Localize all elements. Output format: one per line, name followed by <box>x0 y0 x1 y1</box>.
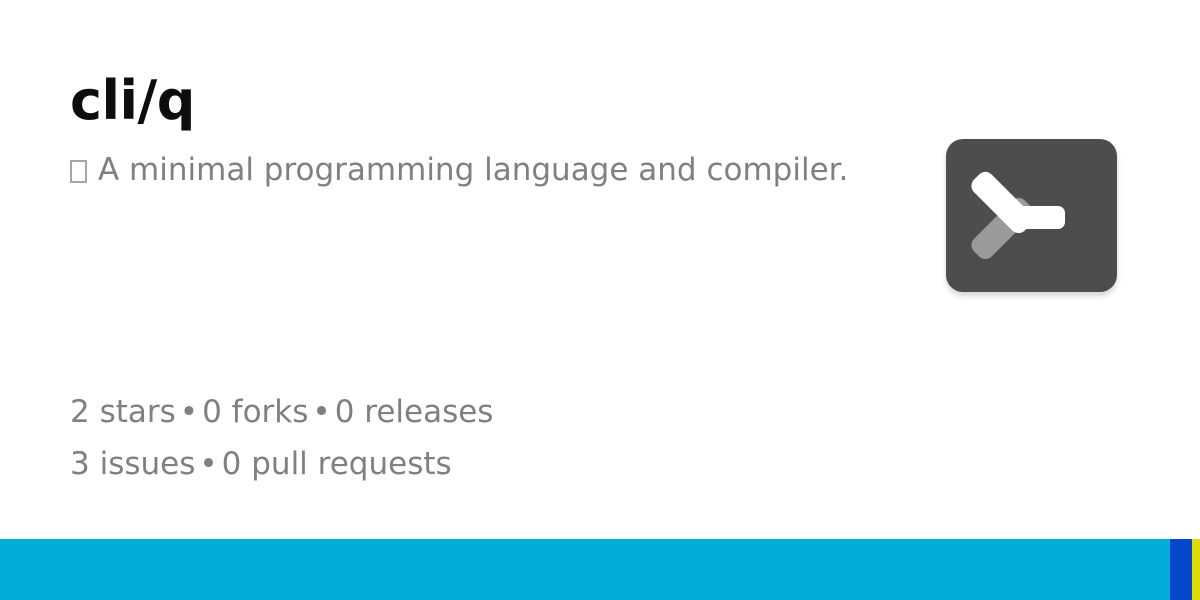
terminal-icon <box>946 139 1117 292</box>
cursor-bar-icon <box>1013 206 1065 229</box>
missing-glyph-box-icon <box>70 160 87 183</box>
pull-requests-count: 0 pull requests <box>222 446 452 482</box>
stats-line-primary: 2 stars•0 forks•0 releases <box>70 386 890 438</box>
page-title: cli/q <box>70 70 890 132</box>
bar-segment-yellow <box>1192 539 1200 600</box>
stats-separator: • <box>308 394 334 430</box>
repository-description-text: A minimal programming language and compi… <box>98 150 848 190</box>
bar-segment-cyan <box>0 539 1170 600</box>
terminal-glyph-icon <box>946 139 1117 292</box>
forks-count: 0 forks <box>202 394 308 430</box>
releases-count: 0 releases <box>335 394 494 430</box>
issues-count: 3 issues <box>70 446 195 482</box>
avatar <box>946 139 1117 292</box>
stats-line-secondary: 3 issues•0 pull requests <box>70 438 890 490</box>
stats-separator: • <box>195 446 221 482</box>
stars-count: 2 stars <box>70 394 176 430</box>
repository-info: cli/q A minimal programming language and… <box>70 70 890 190</box>
stats-separator: • <box>176 394 202 430</box>
bottom-color-bar <box>0 539 1200 600</box>
bar-segment-blue <box>1170 539 1192 600</box>
repository-stats: 2 stars•0 forks•0 releases 3 issues•0 pu… <box>70 386 890 490</box>
repository-description: A minimal programming language and compi… <box>70 150 890 190</box>
repository-social-preview-card: cli/q A minimal programming language and… <box>0 0 1200 600</box>
